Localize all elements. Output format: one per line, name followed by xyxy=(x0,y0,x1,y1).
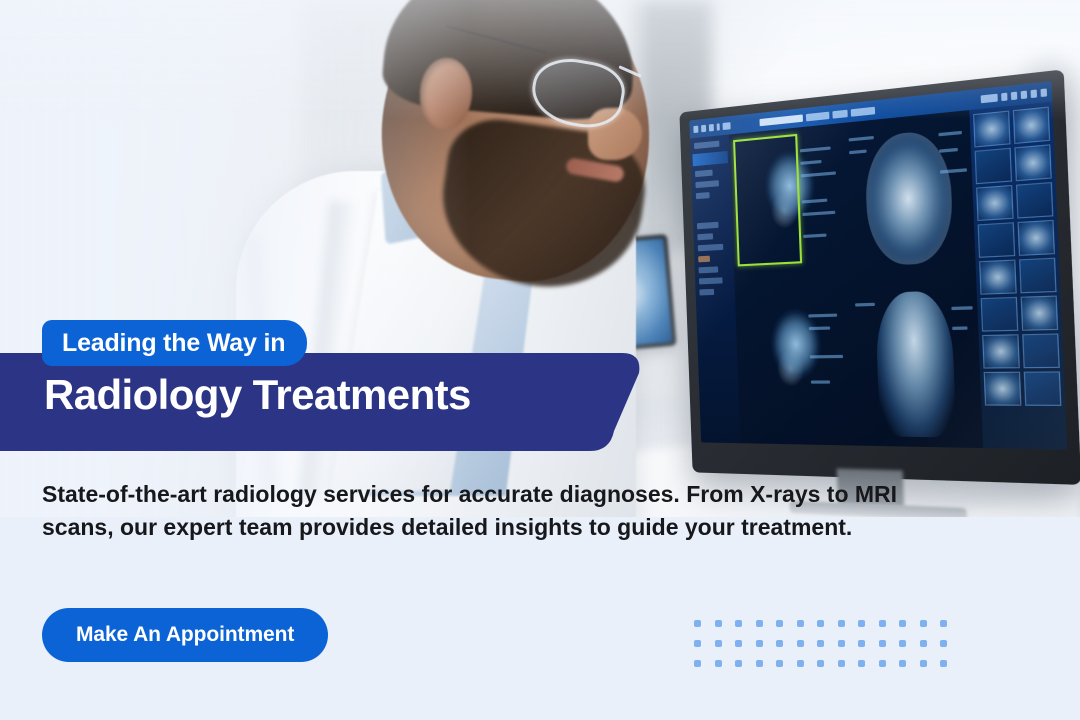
grid-dot xyxy=(735,660,742,667)
grid-dot xyxy=(797,620,804,627)
scan-thumbnail xyxy=(1020,296,1058,331)
cta-label: Make An Appointment xyxy=(76,623,294,647)
scan-thumbnail xyxy=(978,222,1015,258)
decorative-dot-grid xyxy=(694,620,961,680)
grid-dot xyxy=(735,620,742,627)
scan-thumbnail xyxy=(979,260,1016,295)
grid-dot xyxy=(899,660,906,667)
eyebrow-label: Leading the Way in xyxy=(62,329,285,358)
coronal-brain-mri-image xyxy=(875,290,957,438)
grid-dot xyxy=(694,620,701,627)
grid-dot xyxy=(776,660,783,667)
grid-dot xyxy=(756,640,763,647)
grid-dot xyxy=(715,640,722,647)
radiology-monitor xyxy=(679,69,1080,485)
sagittal-mri-lower-image xyxy=(755,297,836,432)
grid-dot xyxy=(817,620,824,627)
scan-quadrant-sagittal-selected xyxy=(729,123,850,289)
grid-dot xyxy=(776,640,783,647)
grid-dot xyxy=(879,620,886,627)
grid-dot xyxy=(879,640,886,647)
grid-dot xyxy=(920,640,927,647)
scan-quadrant-sagittal-lower xyxy=(735,284,857,446)
scan-thumbnail xyxy=(982,334,1019,368)
grid-dot xyxy=(797,640,804,647)
scan-thumbnail xyxy=(1023,371,1061,406)
grid-dot xyxy=(715,620,722,627)
grid-dot xyxy=(899,620,906,627)
grid-dot xyxy=(838,660,845,667)
scan-thumbnail xyxy=(1022,333,1060,368)
monitor-screen xyxy=(689,81,1067,450)
selection-box-icon xyxy=(734,134,802,267)
grid-dot xyxy=(694,660,701,667)
hero-banner: Leading the Way in Radiology Treatments … xyxy=(0,0,1080,720)
eyebrow-tag: Leading the Way in xyxy=(42,320,307,366)
banner-body-text: State-of-the-art radiology services for … xyxy=(42,478,942,544)
grid-dot xyxy=(715,660,722,667)
scan-thumbnail xyxy=(976,185,1013,221)
grid-dot xyxy=(838,640,845,647)
scan-thumbnail xyxy=(1015,182,1053,219)
scan-thumbnail xyxy=(1017,220,1055,256)
scan-thumbnail xyxy=(1018,258,1056,294)
grid-dot xyxy=(858,660,865,667)
grid-dot xyxy=(940,660,947,667)
grid-dot xyxy=(735,640,742,647)
scan-thumbnail xyxy=(975,148,1012,184)
grid-dot xyxy=(920,660,927,667)
scan-quadrant-axial xyxy=(844,110,977,284)
grid-dot xyxy=(920,620,927,627)
grid-dot xyxy=(756,620,763,627)
grid-dot xyxy=(858,620,865,627)
grid-dot xyxy=(879,660,886,667)
pacs-image-grid xyxy=(729,110,983,448)
grid-dot xyxy=(694,640,701,647)
page-title: Radiology Treatments xyxy=(44,371,471,419)
scan-thumbnail xyxy=(981,297,1018,332)
grid-dot xyxy=(797,660,804,667)
pacs-thumbnail-strip xyxy=(969,102,1067,450)
make-an-appointment-button[interactable]: Make An Appointment xyxy=(42,608,328,662)
photo-top-fade-overlay xyxy=(0,0,1080,120)
grid-dot xyxy=(899,640,906,647)
monitor-bezel xyxy=(679,69,1080,485)
grid-dot xyxy=(940,620,947,627)
grid-dot xyxy=(756,660,763,667)
scan-quadrant-coronal xyxy=(850,279,983,448)
grid-dot xyxy=(838,620,845,627)
scan-thumbnail xyxy=(984,372,1021,406)
grid-dot xyxy=(817,660,824,667)
grid-dot xyxy=(776,620,783,627)
grid-dot xyxy=(817,640,824,647)
grid-dot xyxy=(858,640,865,647)
scan-thumbnail xyxy=(1014,144,1052,181)
grid-dot xyxy=(940,640,947,647)
